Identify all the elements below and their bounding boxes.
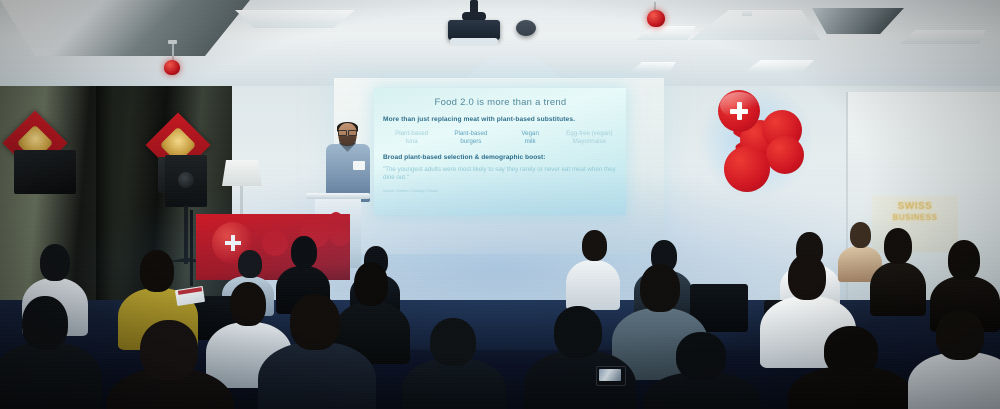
column-line-2: Mayonnaise: [561, 138, 618, 146]
presenter-name-badge: [353, 161, 365, 170]
person-head: [676, 332, 726, 380]
column-line-1: Vegan: [502, 130, 559, 138]
slide-source: Source: Nielsen / Chicago Tribune: [383, 189, 618, 193]
audience-member: [258, 294, 376, 409]
slide-columns: Plant-based tuna Plant-based burgers Veg…: [383, 130, 618, 146]
ceiling-sensor-icon: [516, 20, 536, 36]
slide-column-3: Vegan milk: [502, 130, 559, 146]
presentation-slide: Food 2.0 is more than a trend More than …: [374, 88, 626, 215]
logo-gloss: [720, 92, 758, 118]
banner-logo-lobe: [328, 222, 340, 234]
brand-logo: [704, 88, 812, 200]
audience-member: [644, 332, 760, 409]
person-head: [582, 230, 607, 261]
glasses-icon: [338, 130, 357, 134]
person-head: [640, 264, 680, 312]
audience-member: [908, 310, 1000, 409]
audience-member: [870, 228, 926, 310]
column-line-2: burgers: [442, 138, 499, 146]
person-head: [140, 320, 198, 380]
audience-member: [0, 296, 102, 409]
podium-top-surface: [306, 193, 370, 199]
person-head: [40, 244, 70, 281]
person-head: [430, 318, 476, 366]
gold-sign-text: SWISS: [872, 201, 958, 213]
person-shoulders: [0, 342, 102, 409]
projector-lens-icon: [450, 38, 498, 45]
person-head: [554, 306, 602, 358]
conference-photo: Food 2.0 is more than a trend More than …: [0, 0, 1000, 409]
person-head: [948, 240, 980, 280]
wall-monitor: [14, 150, 76, 194]
person-head: [936, 310, 984, 360]
audience-member: [106, 320, 234, 409]
person-head: [22, 296, 68, 350]
person-head: [290, 294, 340, 350]
person-head: [140, 250, 174, 292]
slide-column-4: Egg-free (vegan) Mayonnaise: [561, 130, 618, 146]
slide-column-1: Plant-based tuna: [383, 130, 440, 146]
person-head: [824, 326, 878, 376]
slide-subheading: Broad plant-based selection & demographi…: [383, 154, 618, 161]
gold-sign-subtext: BUSINESS: [872, 213, 958, 222]
slide-lead: More than just replacing meat with plant…: [383, 116, 618, 123]
person-head: [884, 228, 912, 264]
column-line-1: Plant-based: [442, 130, 499, 138]
column-line-2: milk: [502, 138, 559, 146]
column-line-1: Egg-free (vegan): [561, 130, 618, 138]
audience-member: [402, 318, 506, 409]
floor-lamp-shade: [222, 160, 262, 186]
slide-quote: "The youngest adults were most likely to…: [383, 166, 618, 183]
audience-member: [524, 306, 636, 409]
smartphone-screen: [599, 369, 621, 381]
lantern-icon: [164, 60, 180, 75]
person-shoulders: [908, 352, 1000, 409]
person-head: [850, 222, 871, 248]
projector-icon: [448, 20, 500, 40]
slide-title: Food 2.0 is more than a trend: [383, 97, 618, 108]
ceiling-panel: [742, 10, 752, 16]
logo-lobe-bottom-left: [724, 146, 770, 192]
column-line-1: Plant-based: [383, 130, 440, 138]
lantern-icon: [647, 10, 665, 27]
person-shoulders: [870, 262, 926, 316]
audience-member: [788, 326, 914, 409]
logo-lobe-bottom-right: [766, 136, 804, 174]
slide-column-2: Plant-based burgers: [442, 130, 499, 146]
person-head: [291, 236, 317, 268]
column-line-2: tuna: [383, 138, 440, 146]
person-head: [238, 250, 262, 278]
presenter-beard: [339, 136, 356, 146]
person-head: [788, 254, 826, 300]
person-shoulders: [258, 342, 376, 409]
speaker-cone-icon: [178, 172, 194, 188]
